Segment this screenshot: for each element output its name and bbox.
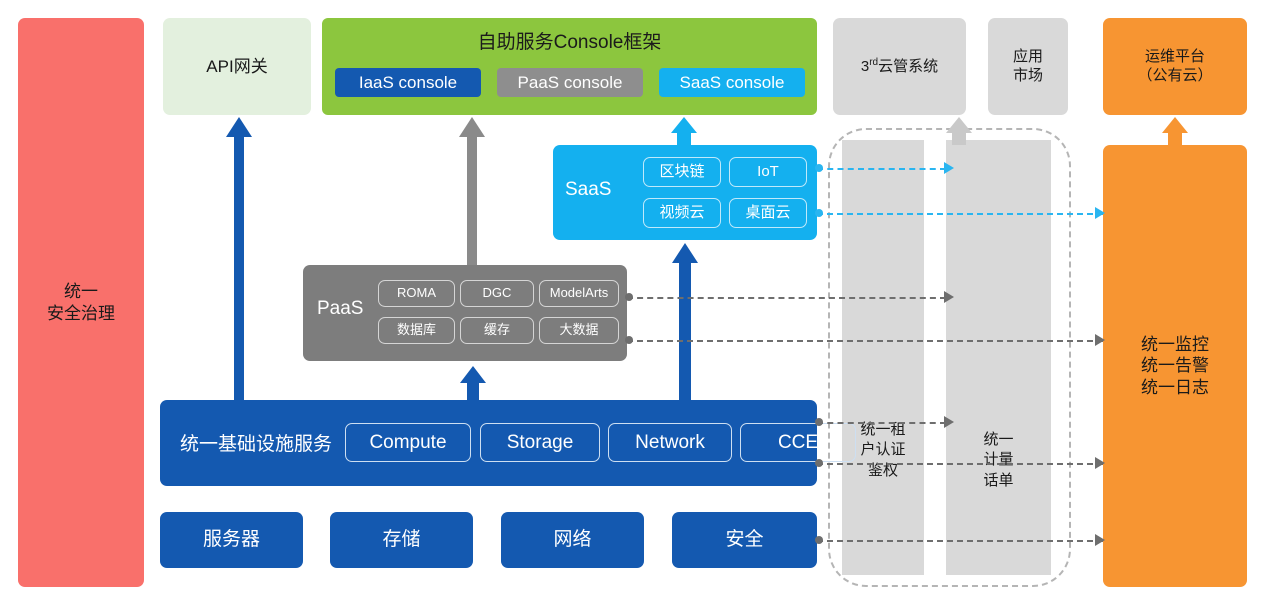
ops-column-line1: 统一监控 [1141,334,1209,355]
iaas-chip-compute[interactable]: Compute [345,423,471,462]
hardware-storage-label: 存储 [382,528,420,552]
paas-label: PaaS [317,298,363,320]
dashed-saas-to-ops-arrowhead [1095,207,1105,219]
iaas-chip-network[interactable]: Network [608,423,732,462]
arrow-iaas-to-saas [672,243,698,400]
saas-chip-video-cloud[interactable]: 视频云 [643,198,721,228]
hardware-box-server[interactable]: 服务器 [160,512,303,568]
iaas-console-pill[interactable]: IaaS console [335,68,481,97]
paas-chip-roma-label: ROMA [397,285,436,301]
dashed-iaas-to-ops [817,463,1103,465]
saas-chip-iot-label: IoT [757,163,779,182]
hardware-security-label: 安全 [725,528,763,552]
dashed-paas-to-ops [627,340,1103,342]
hardware-network-label: 网络 [553,528,591,552]
iaas-chip-cce-label: CCE [778,431,818,455]
dashed-iaas-to-ops-arrowhead [1095,457,1105,469]
paas-chip-cache-label: 缓存 [484,322,510,338]
hardware-box-network[interactable]: 网络 [501,512,644,568]
dashed-paas-to-ops-origin-dot [625,336,633,344]
third-party-cloud-mgmt-box: 3rd云管系统 [833,18,966,115]
dashed-hardware-to-ops-arrowhead [1095,534,1105,546]
dashed-iaas-to-auth [817,422,946,424]
metering-line1: 统一 [946,430,1051,450]
dashed-iaas-to-auth-origin-dot [815,418,823,426]
paas-chip-dgc-label: DGC [483,285,512,301]
ops-platform-line2: （公有云） [1137,67,1212,86]
paas-chip-cache[interactable]: 缓存 [460,317,534,344]
hardware-box-security[interactable]: 安全 [672,512,817,568]
paas-layer-box: PaaS ROMA DGC ModelArts 数据库 缓存 大数据 [303,265,627,361]
arrow-paas-to-console [459,117,485,265]
paas-chip-roma[interactable]: ROMA [378,280,455,307]
paas-chip-dgc[interactable]: DGC [460,280,534,307]
security-label-line1: 统一 [47,281,115,302]
ops-platform-box: 运维平台 （公有云） [1103,18,1247,115]
dashed-saas-to-auth-arrowhead [944,162,954,174]
third-party-suffix: 云管系统 [878,58,938,75]
metering-line2: 计量 [946,450,1051,470]
dashed-paas-to-ops-arrowhead [1095,334,1105,346]
saas-chip-video-cloud-label: 视频云 [659,204,704,223]
paas-console-label: PaaS console [518,72,623,93]
iaas-console-label: IaaS console [359,72,457,93]
saas-layer-box: SaaS 区块链 IoT 视频云 桌面云 [553,145,817,240]
hardware-server-label: 服务器 [203,528,260,552]
dashed-paas-to-auth-arrowhead [944,291,954,303]
self-service-console-frame: 自助服务Console框架 IaaS console PaaS console … [322,18,817,115]
console-frame-title: 自助服务Console框架 [322,27,817,54]
ops-column-line3: 统一日志 [1141,377,1209,398]
paas-chip-bigdata[interactable]: 大数据 [539,317,619,344]
saas-chip-iot[interactable]: IoT [729,157,807,187]
iaas-chip-network-label: Network [635,431,705,455]
security-label-line2: 安全治理 [47,303,115,324]
ops-monitoring-column: 统一监控 统一告警 统一日志 [1103,145,1247,587]
saas-chip-desktop-cloud[interactable]: 桌面云 [729,198,807,228]
arrow-ops-column-to-ops-platform [1162,117,1188,145]
dashed-saas-to-auth-origin-dot [815,164,823,172]
paas-chip-database[interactable]: 数据库 [378,317,455,344]
ops-column-line2: 统一告警 [1141,355,1209,376]
paas-console-pill[interactable]: PaaS console [497,68,643,97]
dashed-saas-to-ops-origin-dot [815,209,823,217]
dashed-saas-to-auth [817,168,946,170]
saas-chip-desktop-cloud-label: 桌面云 [745,204,790,223]
saas-console-pill[interactable]: SaaS console [659,68,805,97]
dashed-paas-to-auth-origin-dot [625,293,633,301]
saas-console-label: SaaS console [680,72,785,93]
third-party-prefix: 3 [861,58,869,75]
app-market-line1: 应用 [1013,48,1043,67]
third-party-sup: rd [869,57,878,68]
saas-label: SaaS [565,179,611,201]
unified-tenant-auth-column: 统一租 户认证 鉴权 [842,140,924,575]
api-gateway-box: API网关 [163,18,311,115]
architecture-diagram: 统一 安全治理 API网关 自助服务Console框架 IaaS console… [0,0,1265,605]
unified-infrastructure-service-box: 统一基础设施服务 Compute Storage Network CCE [160,400,817,486]
app-market-line2: 市场 [1013,67,1043,86]
arrow-iaas-to-paas [460,366,486,400]
dashed-saas-to-ops [817,213,1103,215]
ops-platform-line1: 运维平台 [1137,48,1212,67]
dashed-hardware-to-ops [817,540,1103,542]
arrow-iaas-to-api-gateway [226,117,252,400]
paas-chip-modelarts[interactable]: ModelArts [539,280,619,307]
dashed-iaas-to-auth-arrowhead [944,416,954,428]
iaas-label: 统一基础设施服务 [180,429,332,456]
app-market-box: 应用 市场 [988,18,1068,115]
metering-line3: 话单 [946,471,1051,491]
arrow-saas-to-saas-console [671,117,697,146]
saas-chip-blockchain-label: 区块链 [659,163,704,182]
dashed-hardware-to-ops-origin-dot [815,536,823,544]
dashed-iaas-to-ops-origin-dot [815,459,823,467]
paas-chip-modelarts-label: ModelArts [550,285,609,301]
unified-metering-billing-column: 统一 计量 话单 [946,140,1051,575]
paas-chip-bigdata-label: 大数据 [559,322,598,338]
iaas-chip-compute-label: Compute [369,431,446,455]
saas-chip-blockchain[interactable]: 区块链 [643,157,721,187]
api-gateway-label: API网关 [206,56,267,77]
hardware-box-storage[interactable]: 存储 [330,512,473,568]
iaas-chip-cce[interactable]: CCE [740,423,856,462]
paas-chip-database-label: 数据库 [397,322,436,338]
iaas-chip-storage-label: Storage [507,431,574,455]
unified-security-governance-panel: 统一 安全治理 [18,18,144,587]
arrow-shared-to-third-party [946,117,972,145]
iaas-chip-storage[interactable]: Storage [480,423,600,462]
dashed-paas-to-auth [627,297,946,299]
